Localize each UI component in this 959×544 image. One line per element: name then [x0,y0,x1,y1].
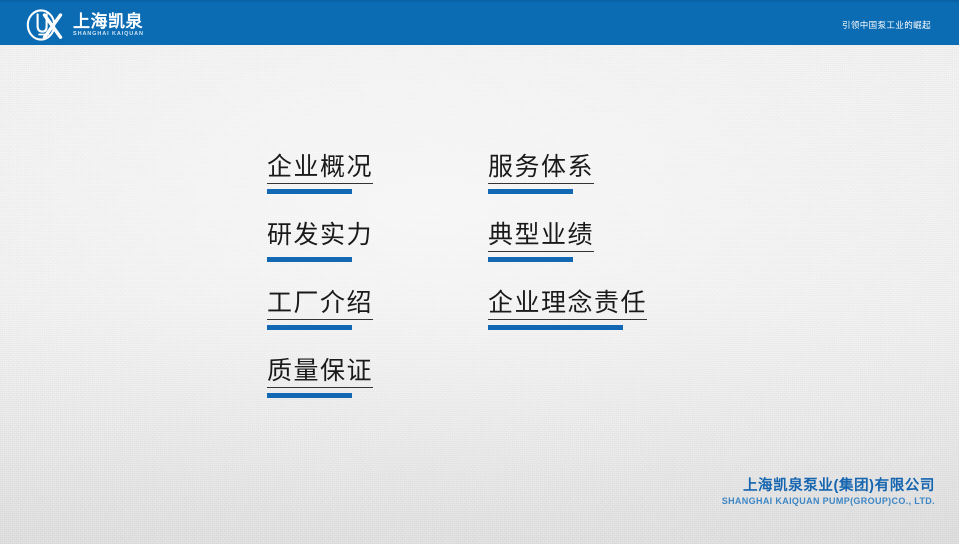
agenda-item-left-4[interactable]: 质量保证 [267,356,373,398]
agenda-item-label: 研发实力 [267,220,373,252]
footer-company-block: 上海凯泉泵业(集团)有限公司 SHANGHAI KAIQUAN PUMP(GRO… [722,479,935,507]
agenda-item-right-3[interactable]: 企业理念责任 [488,288,647,330]
agenda-item-right-2[interactable]: 典型业绩 [488,220,594,262]
brand-logo[interactable]: 上海凯泉 SHANGHAI KAIQUAN [26,8,144,42]
agenda-item-left-1[interactable]: 企业概况 [267,152,373,194]
agenda-item-left-2[interactable]: 研发实力 [267,220,373,262]
brand-name-cn: 上海凯泉 [73,13,144,30]
agenda-item-accent-bar [267,189,352,194]
agenda-item-accent-bar [267,257,352,262]
kaiquan-monogram-logo-icon [26,9,66,41]
presentation-slide: 上海凯泉 SHANGHAI KAIQUAN 引领中国泵工业的崛起 企业概况研发实… [0,0,959,544]
agenda-item-accent-bar [267,325,352,330]
agenda-item-label: 质量保证 [267,356,373,388]
agenda-item-right-1[interactable]: 服务体系 [488,152,594,194]
agenda-item-label: 服务体系 [488,152,594,184]
brand-name-en: SHANGHAI KAIQUAN [73,32,144,38]
header-band: 上海凯泉 SHANGHAI KAIQUAN 引领中国泵工业的崛起 [0,0,959,45]
agenda-item-left-3[interactable]: 工厂介绍 [267,288,373,330]
header-tagline: 引领中国泵工业的崛起 [842,2,931,47]
agenda-item-accent-bar [488,189,573,194]
footer-company-name-en: SHANGHAI KAIQUAN PUMP(GROUP)CO., LTD. [722,497,935,506]
footer-company-name-cn: 上海凯泉泵业(集团)有限公司 [722,479,935,494]
agenda-item-accent-bar [267,393,352,398]
agenda-item-label: 企业概况 [267,152,373,184]
agenda-item-accent-bar [488,257,573,262]
agenda-item-label: 典型业绩 [488,220,594,252]
agenda-item-label: 企业理念责任 [488,288,647,320]
slide-background-vignette [0,0,959,544]
brand-logo-text: 上海凯泉 SHANGHAI KAIQUAN [73,13,144,38]
agenda-item-accent-bar [488,325,623,330]
agenda-item-label: 工厂介绍 [267,288,373,320]
